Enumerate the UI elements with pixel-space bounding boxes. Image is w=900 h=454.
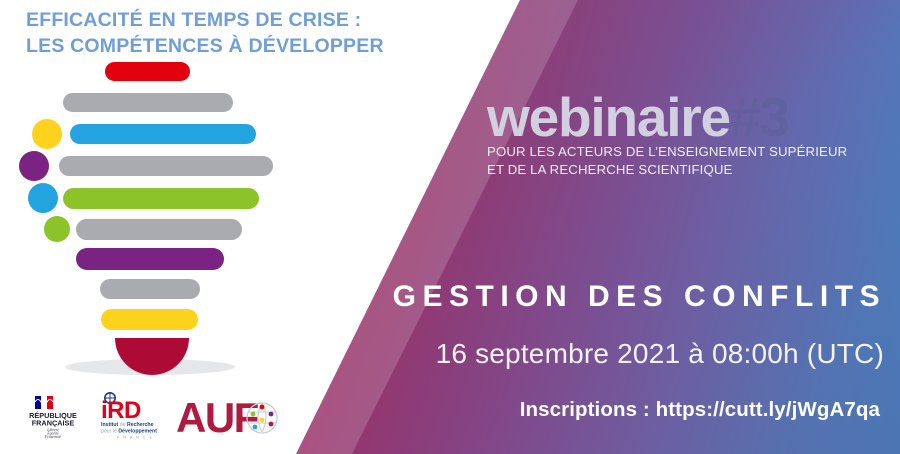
bulb-dot-green [44, 216, 70, 242]
ird-wordmark: iRD [101, 397, 141, 424]
page-title-line-1: EFFICACITÉ EN TEMPS DE CRISE : [26, 8, 456, 34]
bulb-bar-green [63, 188, 259, 209]
webinaire-subtitle: POUR LES ACTEURS DE L’ENSEIGNEMENT SUPÉR… [487, 143, 887, 180]
webinar-banner: EFFICACITÉ EN TEMPS DE CRISE : LES COMPÉ… [0, 0, 900, 454]
bulb-dot-purple [19, 151, 49, 181]
bulb-dot-blue [28, 183, 58, 213]
bulb-bar-purple [76, 248, 224, 270]
bulb-bar-blue [70, 124, 256, 144]
republique-francaise-logo: RÉPUBLIQUE FRANÇAISE Liberté Égalité Fra… [22, 393, 84, 444]
event-title: GESTION DES CONFLITS [0, 280, 886, 314]
ird-logo: iRD Institut de Recherche pour le Dévelo… [97, 391, 163, 446]
ird-tagline-line-1: Institut de Recherche [101, 422, 154, 428]
bulb-bar-red [105, 62, 190, 81]
bulb-bar-grey-1 [63, 93, 233, 112]
bulb-bar-grey-2 [59, 156, 273, 176]
rf-motto-line-3: Fraternité [44, 434, 62, 439]
ird-tagline-line-3: F R A N C E [117, 435, 153, 440]
event-date: 16 septembre 2021 à 08:00h (UTC) [0, 338, 884, 370]
webinaire-heading-block: webinaire#3 POUR LES ACTEURS DE L’ENSEIG… [487, 92, 887, 180]
page-title: EFFICACITÉ EN TEMPS DE CRISE : LES COMPÉ… [26, 8, 456, 60]
webinaire-subtitle-line-2: ET DE LA RECHERCHE SCIENTIFIQUE [487, 161, 887, 180]
bulb-dot-yellow [32, 119, 62, 149]
webinaire-number: #3 [730, 86, 789, 148]
page-title-line-2: LES COMPÉTENCES À DÉVELOPPER [26, 34, 456, 60]
webinaire-subtitle-line-1: POUR LES ACTEURS DE L’ENSEIGNEMENT SUPÉR… [487, 143, 887, 162]
bulb-bar-grey-3 [76, 219, 242, 240]
webinaire-wordmark: webinaire#3 [487, 92, 887, 143]
webinaire-word: webinaire [487, 86, 730, 148]
auf-logo: AUF [176, 391, 284, 446]
partner-logos: RÉPUBLIQUE FRANÇAISE Liberté Égalité Fra… [22, 391, 284, 446]
french-flag-icon [35, 396, 53, 409]
lightbulb-illustration [0, 60, 300, 380]
